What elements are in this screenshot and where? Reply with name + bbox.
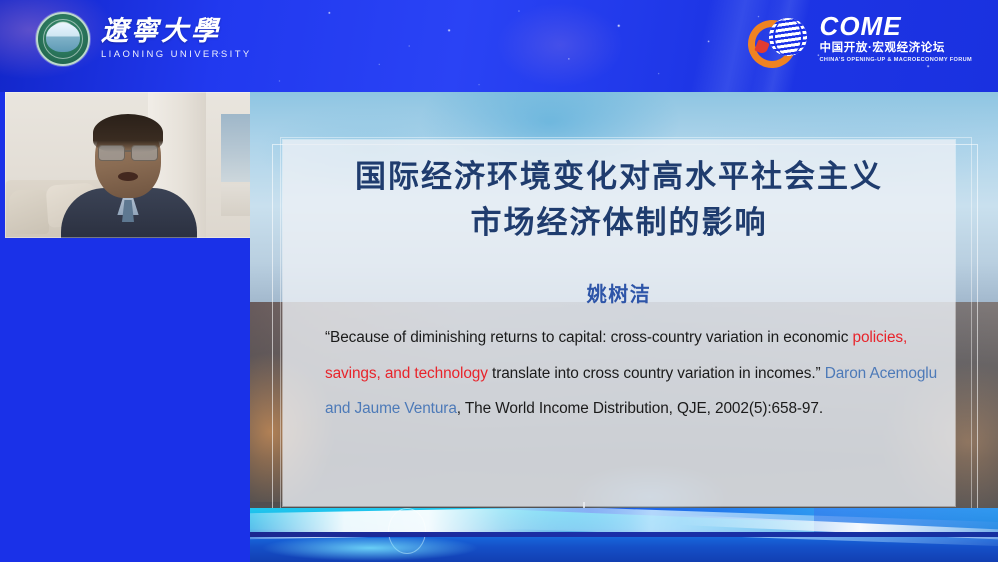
- come-forum-logo: COME 中国开放·宏观经济论坛 CHINA'S OPENING-UP & MA…: [748, 13, 972, 63]
- come-globe-sphere-icon: [769, 18, 807, 56]
- liaoning-university-logo: 遼寧大學 LIAONING UNIVERSITY: [36, 12, 252, 66]
- come-wordmark: COME 中国开放·宏观经济论坛 CHINA'S OPENING-UP & MA…: [820, 13, 972, 63]
- quote-text-part-1: “Because of diminishing returns to capit…: [325, 329, 853, 346]
- band-navy-line: [250, 532, 998, 537]
- slide-quote-block: “Because of diminishing returns to capit…: [325, 320, 945, 427]
- university-name-en: LIAONING UNIVERSITY: [101, 50, 252, 60]
- come-subtitle-en: CHINA'S OPENING-UP & MACROECONOMY FORUM: [820, 58, 972, 64]
- slide-author-name: 姚树洁: [283, 278, 955, 307]
- slide-title: 国际经济环境变化对高水平社会主义 市场经济体制的影响: [283, 154, 955, 246]
- university-name-cn: 遼寧大學: [101, 18, 252, 45]
- band-lower-glow: [250, 538, 550, 562]
- come-subtitle-cn: 中国开放·宏观经济论坛: [820, 43, 972, 55]
- shared-slide[interactable]: 国际经济环境变化对高水平社会主义 市场经济体制的影响 姚树洁 “Because …: [250, 92, 998, 562]
- quote-citation-source: , The World Income Distribution, QJE, 20…: [457, 400, 823, 417]
- slide-decorative-band: [250, 508, 998, 562]
- video-tile-border: [5, 92, 251, 238]
- slide-title-line-1: 国际经济环境变化对高水平社会主义: [283, 154, 955, 200]
- liaoning-university-wordmark: 遼寧大學 LIAONING UNIVERSITY: [101, 18, 252, 60]
- come-title: COME: [820, 13, 972, 39]
- quote-text-part-3: translate into cross country variation i…: [488, 365, 825, 382]
- liaoning-university-emblem-icon: [36, 12, 90, 66]
- event-header-banner: 遼寧大學 LIAONING UNIVERSITY COME 中国开放·宏观经济论…: [0, 0, 998, 92]
- speaker-video-tile[interactable]: [5, 92, 251, 238]
- presentation-screen: 遼寧大學 LIAONING UNIVERSITY COME 中国开放·宏观经济论…: [0, 0, 998, 562]
- slide-title-line-2: 市场经济体制的影响: [283, 200, 955, 246]
- come-globe-icon: [748, 13, 810, 63]
